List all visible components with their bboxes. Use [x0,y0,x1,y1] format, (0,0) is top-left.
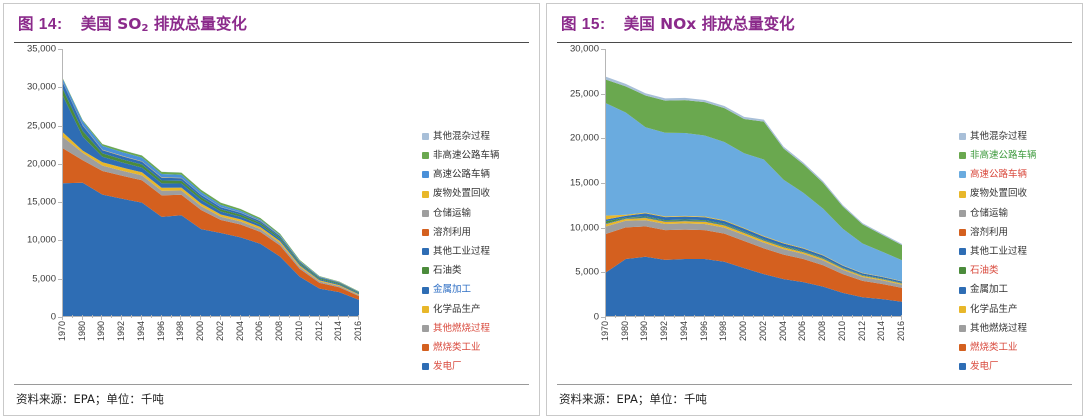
figure-14-x-tick [279,315,280,320]
figure-14-x-minor-tick [131,315,132,318]
figure-14-x-minor-tick [111,315,112,318]
figure-15-x-tick [644,315,645,320]
figure-15-plot-area: 05,00010,00015,00020,00025,00030,000 197… [547,43,1082,373]
figure-15-x-minor-tick [773,315,774,318]
figure-15-x-tick-label: 2008 [817,321,827,341]
figure-15-y-tick-label: 20,000 [570,133,599,144]
legend-swatch-icon [959,152,966,159]
legend-swatch-icon [422,287,429,294]
figure-15-area-svg [606,49,902,316]
figure-14-footer: 资料来源：EPA；单位：千吨 [4,384,539,415]
figure-14-x-tick [101,315,102,320]
legend-swatch-icon [422,248,429,255]
figure-15-x-tick-label: 1998 [718,321,728,341]
figure-14-x-tick [299,315,300,320]
figure-panel-14: 图 14: 美国 SO2 排放总量变化 05,00010,00015,00020… [3,3,540,416]
figure-15-title-b: 排放总量变化 [696,15,794,33]
legend-item-label: 化学品生产 [970,305,1018,315]
legend-item-label: 溶剂利用 [970,228,1008,238]
figure-14-x-tick [62,315,63,320]
figure-15-x-tick-label: 1980 [620,321,630,341]
legend-swatch-icon [959,325,966,332]
legend-item-label: 发电厂 [970,362,999,372]
legend-swatch-icon [959,287,966,294]
figure-14-area-svg [63,49,359,316]
legend-swatch-icon [959,344,966,351]
legend-item[interactable]: 金属加工 [422,281,537,300]
figure-14-y-tick-label: 5,000 [32,273,56,284]
legend-item[interactable]: 其他工业过程 [959,242,1074,261]
figure-15-footer-rule [557,384,1072,385]
legend-swatch-icon [422,344,429,351]
legend-item-label: 石油类 [970,266,999,276]
legend-item-label: 废物处置回收 [970,189,1027,199]
legend-swatch-icon [959,171,966,178]
figure-15-x-minor-tick [674,315,675,318]
legend-swatch-icon [422,267,429,274]
figure-15-x-tick [822,315,823,320]
figure-14-x-tick [180,315,181,320]
legend-item-label: 高速公路车辆 [433,170,490,180]
figure-14-x-minor-tick [309,315,310,318]
figure-sheet: 图 14: 美国 SO2 排放总量变化 05,00010,00015,00020… [0,0,1086,419]
figure-15-number: 图 15: [561,12,606,34]
figure-14-x-tick-label: 2010 [294,321,304,341]
figure-14-title: 美国 SO2 排放总量变化 [81,12,247,34]
legend-swatch-icon [959,248,966,255]
legend-swatch-icon [422,171,429,178]
figure-15-y-tick-label: 15,000 [570,178,599,189]
figure-15-y-tick [601,228,606,229]
legend-item[interactable]: 溶剂利用 [959,223,1074,242]
legend-item[interactable]: 仓储运输 [422,204,537,223]
legend-item[interactable]: 其他燃烧过程 [422,319,537,338]
legend-item-label: 非高速公路车辆 [433,151,500,161]
legend-swatch-icon [422,191,429,198]
figure-14-x-axis: 1970198019901992199419961998200020022004… [62,321,359,373]
figure-14-title-b: 排放总量变化 [148,15,246,33]
figure-14-source: 资料来源：EPA；单位：千吨 [4,391,539,415]
legend-item-label: 金属加工 [433,285,471,295]
legend-item[interactable]: 溶剂利用 [422,223,537,242]
figure-14-number: 图 14: [18,12,63,34]
figure-14-y-tick-label: 25,000 [27,120,56,131]
figure-14-x-tick-label: 2006 [254,321,264,341]
figure-14-y-tick [58,49,63,50]
figure-14-y-tick [58,279,63,280]
figure-14-x-tick-label: 1996 [156,321,166,341]
legend-item-label: 其他混杂过程 [970,132,1027,142]
figure-14-x-tick-label: 1970 [57,321,67,341]
figure-15-y-tick [601,183,606,184]
figure-14-y-tick [58,87,63,88]
figure-15-y-tick-label: 25,000 [570,88,599,99]
legend-item-label: 其他燃烧过程 [433,324,490,334]
legend-item[interactable]: 非高速公路车辆 [959,146,1074,165]
legend-swatch-icon [422,152,429,159]
figure-15-x-minor-tick [753,315,754,318]
figure-15-plot [605,49,902,317]
legend-item[interactable]: 非高速公路车辆 [422,146,537,165]
figure-15-x-tick [901,315,902,320]
figure-15-x-tick-label: 2002 [758,321,768,341]
figure-14-x-tick-label: 2016 [353,321,363,341]
figure-15-header: 图 15: 美国 NOx 排放总量变化 [547,4,1082,42]
figure-15-x-tick [684,315,685,320]
figure-14-x-minor-tick [151,315,152,318]
legend-item-label: 燃烧类工业 [970,343,1018,353]
figure-15-x-minor-tick [871,315,872,318]
figure-15-x-minor-tick [694,315,695,318]
figure-15-x-tick-label: 2012 [857,321,867,341]
figure-15-x-tick [763,315,764,320]
figure-14-y-tick-label: 10,000 [27,235,56,246]
figure-14-x-minor-tick [269,315,270,318]
figure-15-x-minor-tick [891,315,892,318]
figure-14-x-tick [121,315,122,320]
legend-item[interactable]: 废物处置回收 [959,185,1074,204]
legend-swatch-icon [959,267,966,274]
figure-14-x-tick [200,315,201,320]
legend-item[interactable]: 石油类 [959,261,1074,280]
figure-15-x-minor-tick [733,315,734,318]
figure-15-x-tick-label: 2004 [778,321,788,341]
figure-14-x-tick-label: 1998 [175,321,185,341]
figure-14-x-tick-label: 2000 [195,321,205,341]
figure-15-title: 美国 NOx 排放总量变化 [624,12,795,34]
legend-item[interactable]: 其他混杂过程 [422,127,537,146]
figure-14-x-minor-tick [72,315,73,318]
figure-14-x-tick-label: 2014 [333,321,343,341]
figure-15-x-tick [802,315,803,320]
legend-item[interactable]: 石油类 [422,261,537,280]
figure-15-source: 资料来源：EPA；单位：千吨 [547,391,1082,415]
figure-14-x-tick [161,315,162,320]
figure-14-x-tick-label: 2004 [235,321,245,341]
figure-15-y-tick-label: 10,000 [570,222,599,233]
figure-15-y-tick [601,138,606,139]
legend-item-label: 石油类 [433,266,462,276]
legend-item[interactable]: 化学品生产 [422,300,537,319]
figure-14-y-tick [58,202,63,203]
legend-swatch-icon [959,306,966,313]
figure-panel-15: 图 15: 美国 NOx 排放总量变化 05,00010,00015,00020… [546,3,1083,416]
figure-14-x-tick-label: 1992 [116,321,126,341]
legend-item-label: 溶剂利用 [433,228,471,238]
legend-swatch-icon [959,210,966,217]
legend-item-label: 金属加工 [970,285,1008,295]
legend-item-label: 废物处置回收 [433,189,490,199]
figure-15-title-a: 美国 NOx [624,15,697,33]
legend-swatch-icon [422,133,429,140]
figure-14-x-minor-tick [171,315,172,318]
figure-15-x-tick-label: 1990 [639,321,649,341]
figure-15-y-tick [601,94,606,95]
figure-15-x-minor-tick [635,315,636,318]
figure-14-y-tick [58,164,63,165]
legend-item[interactable]: 化学品生产 [959,300,1074,319]
figure-15-x-tick-label: 1992 [659,321,669,341]
figure-14-y-tick-label: 0 [51,312,56,323]
figure-15-x-tick [664,315,665,320]
legend-item-label: 燃烧类工业 [433,343,481,353]
figure-15-y-tick-label: 5,000 [575,267,599,278]
legend-item[interactable]: 金属加工 [959,281,1074,300]
figure-15-x-tick [862,315,863,320]
figure-14-x-minor-tick [348,315,349,318]
figure-15-x-tick [723,315,724,320]
figure-15-x-tick [842,315,843,320]
legend-item[interactable]: 高速公路车辆 [422,165,537,184]
figure-15-x-minor-tick [792,315,793,318]
figure-15-x-minor-tick [812,315,813,318]
legend-item[interactable]: 其他工业过程 [422,242,537,261]
figure-15-x-tick [625,315,626,320]
figure-15-x-tick [704,315,705,320]
figure-14-x-minor-tick [328,315,329,318]
figure-14-y-axis: 05,00010,00015,00020,00025,00030,00035,0… [4,43,60,323]
figure-15-x-minor-tick [852,315,853,318]
legend-swatch-icon [422,229,429,236]
figure-15-footer: 资料来源：EPA；单位：千吨 [547,384,1082,415]
figure-15-x-tick-label: 2000 [738,321,748,341]
figure-14-title-a: 美国 SO [81,15,142,33]
legend-item[interactable]: 发电厂 [422,357,537,376]
figure-14-x-minor-tick [230,315,231,318]
figure-15-x-tick-label: 2010 [837,321,847,341]
figure-15-x-tick [881,315,882,320]
legend-item-label: 非高速公路车辆 [970,151,1037,161]
legend-item-label: 其他工业过程 [433,247,490,257]
legend-swatch-icon [959,363,966,370]
figure-14-y-tick-label: 30,000 [27,82,56,93]
legend-swatch-icon [422,325,429,332]
figure-14-y-tick-label: 20,000 [27,158,56,169]
legend-item-label: 化学品生产 [433,305,481,315]
figure-15-x-minor-tick [615,315,616,318]
legend-item[interactable]: 燃烧类工业 [959,338,1074,357]
legend-swatch-icon [959,191,966,198]
legend-item[interactable]: 其他燃烧过程 [959,319,1074,338]
figure-14-x-tick-label: 1990 [96,321,106,341]
legend-swatch-icon [422,210,429,217]
legend-item-label: 发电厂 [433,362,462,372]
figure-14-plot [62,49,359,317]
legend-swatch-icon [422,306,429,313]
legend-item-label: 仓储运输 [970,209,1008,219]
figure-14-x-minor-tick [190,315,191,318]
figure-14-x-tick-label: 2012 [314,321,324,341]
figure-14-title-subscript: 2 [141,23,148,34]
legend-item-label: 其他燃烧过程 [970,324,1027,334]
figure-14-x-tick [240,315,241,320]
figure-14-x-tick [259,315,260,320]
figure-14-x-tick [319,315,320,320]
figure-15-x-tick-label: 1970 [600,321,610,341]
legend-item-label: 高速公路车辆 [970,170,1027,180]
legend-item[interactable]: 高速公路车辆 [959,165,1074,184]
figure-15-x-minor-tick [654,315,655,318]
figure-14-x-minor-tick [249,315,250,318]
figure-14-x-tick [141,315,142,320]
legend-swatch-icon [959,133,966,140]
figure-14-y-tick [58,126,63,127]
figure-14-x-tick-label: 1994 [136,321,146,341]
legend-item[interactable]: 燃烧类工业 [422,338,537,357]
figure-14-x-minor-tick [210,315,211,318]
legend-swatch-icon [959,229,966,236]
figure-14-legend: 其他混杂过程非高速公路车辆高速公路车辆废物处置回收仓储运输溶剂利用其他工业过程石… [422,127,537,376]
figure-15-x-tick-label: 1996 [699,321,709,341]
figure-15-x-tick [605,315,606,320]
figure-14-x-minor-tick [92,315,93,318]
figure-14-x-tick [338,315,339,320]
figure-14-header: 图 14: 美国 SO2 排放总量变化 [4,4,539,42]
figure-15-x-axis: 1970198019901992199419961998200020022004… [605,321,902,373]
figure-14-x-tick [358,315,359,320]
legend-item-label: 仓储运输 [433,209,471,219]
figure-14-plot-area: 05,00010,00015,00020,00025,00030,00035,0… [4,43,539,373]
legend-item[interactable]: 仓储运输 [959,204,1074,223]
legend-item-label: 其他工业过程 [970,247,1027,257]
figure-15-x-minor-tick [832,315,833,318]
figure-15-y-tick [601,272,606,273]
figure-14-footer-rule [14,384,529,385]
figure-15-x-tick-label: 2014 [876,321,886,341]
figure-14-y-tick-label: 35,000 [27,44,56,55]
legend-item[interactable]: 废物处置回收 [422,185,537,204]
figure-15-x-tick [743,315,744,320]
legend-item[interactable]: 其他混杂过程 [959,127,1074,146]
figure-14-y-tick-label: 15,000 [27,197,56,208]
figure-15-x-tick-label: 2016 [896,321,906,341]
legend-item-label: 其他混杂过程 [433,132,490,142]
figure-15-y-tick-label: 30,000 [570,44,599,55]
figure-14-x-tick-label: 2002 [215,321,225,341]
figure-14-x-tick-label: 1980 [77,321,87,341]
figure-14-x-tick [220,315,221,320]
figure-14-x-tick-label: 2008 [274,321,284,341]
figure-15-y-tick-label: 0 [594,312,599,323]
figure-15-y-axis: 05,00010,00015,00020,00025,00030,000 [547,43,603,323]
figure-15-x-tick-label: 2006 [797,321,807,341]
figure-14-x-minor-tick [289,315,290,318]
figure-15-x-tick [783,315,784,320]
legend-item[interactable]: 发电厂 [959,357,1074,376]
figure-15-x-minor-tick [714,315,715,318]
figure-14-y-tick [58,240,63,241]
legend-swatch-icon [422,363,429,370]
figure-15-legend: 其他混杂过程非高速公路车辆高速公路车辆废物处置回收仓储运输溶剂利用其他工业过程石… [959,127,1074,376]
figure-15-x-tick-label: 1994 [679,321,689,341]
figure-15-y-tick [601,49,606,50]
figure-14-x-tick [82,315,83,320]
